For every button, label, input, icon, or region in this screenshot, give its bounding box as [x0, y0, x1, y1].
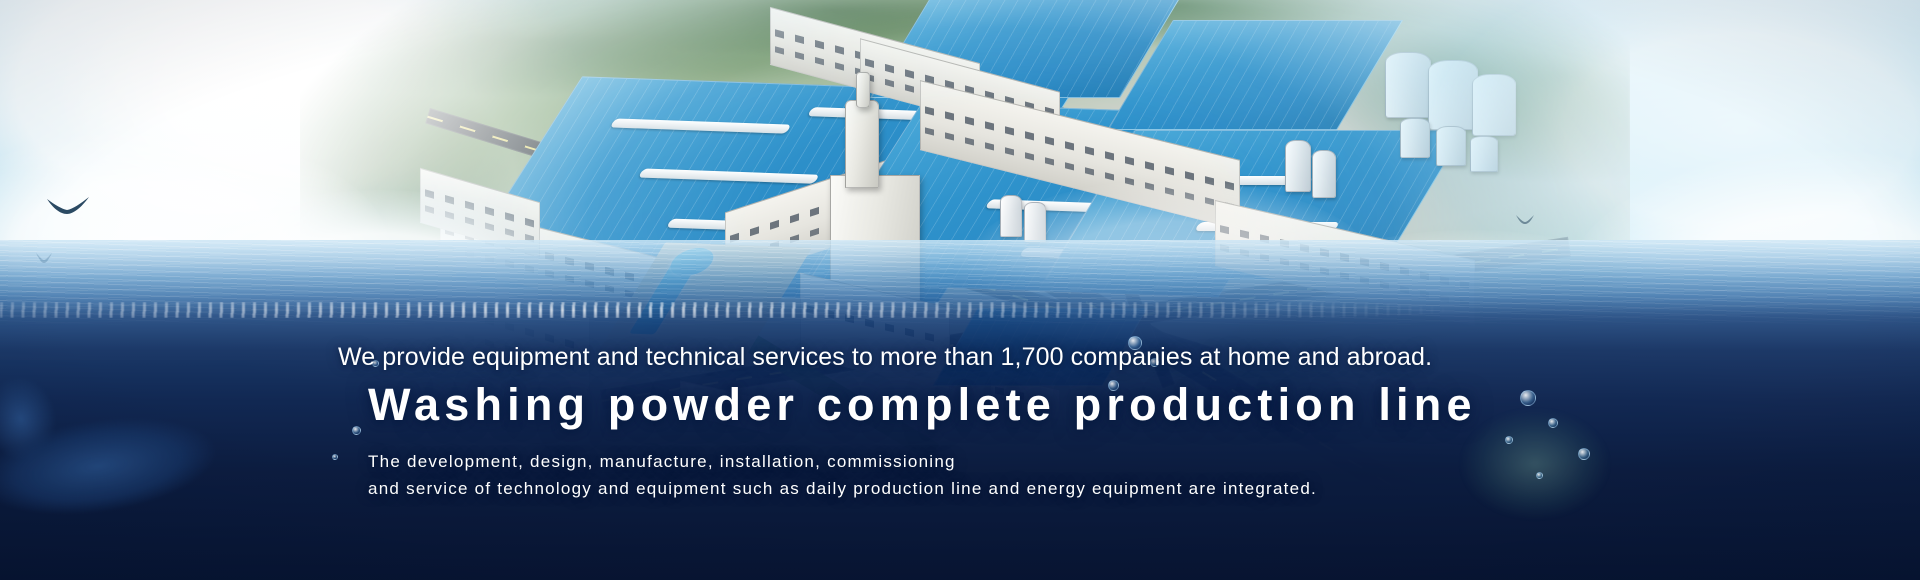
- seagull-icon: [46, 196, 90, 216]
- wave-crest: [0, 302, 1920, 318]
- hero-copy: We provide equipment and technical servi…: [338, 342, 1538, 502]
- bubble: [1548, 418, 1558, 428]
- hero-description-line-2: and service of technology and equipment …: [368, 476, 1538, 502]
- seagull-icon: [1516, 214, 1534, 225]
- bubble: [1578, 448, 1590, 460]
- hero-tagline: We provide equipment and technical servi…: [338, 342, 1538, 373]
- hero-description-line-1: The development, design, manufacture, in…: [368, 449, 1538, 475]
- dolphin-silhouette: [0, 341, 261, 558]
- hero-banner: We provide equipment and technical servi…: [0, 0, 1920, 580]
- page-title: Washing powder complete production line: [368, 378, 1538, 432]
- hero-description: The development, design, manufacture, in…: [368, 449, 1538, 502]
